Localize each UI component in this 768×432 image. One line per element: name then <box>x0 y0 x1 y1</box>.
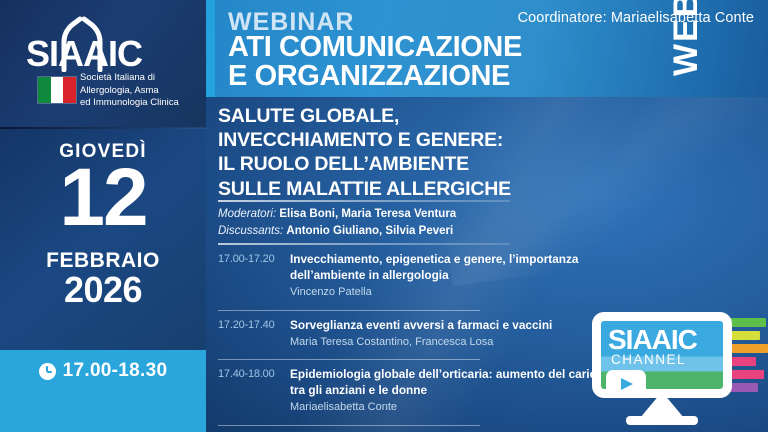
time-row: 17.00-18.30 <box>0 360 206 382</box>
channel-name: SIAAIC <box>608 326 697 354</box>
society-line-3: ed Immunologia Clinica <box>80 97 202 110</box>
program-divider <box>218 310 480 311</box>
program-item: 17.00-17.20 Invecchiamento, epigenetica … <box>218 252 618 305</box>
discussants-label: Discussants: <box>218 225 283 237</box>
program-item: 17.40-18.00 Epidemiologia globale dell’o… <box>218 367 618 420</box>
siaaic-wordmark: SIAAIC <box>26 36 186 72</box>
society-line-1: Società Italiana di <box>80 72 202 85</box>
program-item-speaker: Maria Teresa Costantino, Francesca Losa <box>290 335 618 350</box>
program-item-speaker: Mariaelisabetta Conte <box>290 400 618 415</box>
header-title-line-1: ATI COMUNICAZIONE <box>228 33 522 62</box>
program-item-body: Invecchiamento, epigenetica e genere, l’… <box>290 252 618 300</box>
program-item-body: Epidemiologia globale dell’orticaria: au… <box>290 367 618 415</box>
program-divider <box>218 359 480 360</box>
time-text: 17.00-18.30 <box>63 360 168 382</box>
program-divider <box>218 425 480 426</box>
siaaic-logo: SIAAIC Società Italiana di Allergologia,… <box>0 14 206 118</box>
date-panel: GIOVEDÌ 12 FEBBRAIO 2026 <box>0 129 206 350</box>
society-line-2: Allergologia, Asma <box>80 85 202 98</box>
date-day: 12 <box>0 157 206 239</box>
title-divider-bottom <box>218 243 510 245</box>
clock-icon <box>39 363 56 380</box>
program-item-speaker: Vincenzo Patella <box>290 285 618 300</box>
discussants-names: Antonio Giuliano, Silvia Peveri <box>286 225 453 237</box>
main-title: SALUTE GLOBALE, INVECCHIAMENTO E GENERE:… <box>218 104 578 201</box>
siaaic-channel-logo: SIAAIC CHANNEL <box>592 312 768 432</box>
logo-panel: SIAAIC Società Italiana di Allergologia,… <box>0 0 206 128</box>
webinar-poster: SIAAIC Società Italiana di Allergologia,… <box>0 0 768 432</box>
moderators-names: Elisa Boni, Maria Teresa Ventura <box>279 208 456 220</box>
monitor-stand <box>640 398 684 418</box>
program-item-time: 17.40-18.00 <box>218 367 280 415</box>
program-item-time: 17.00-17.20 <box>218 252 280 300</box>
program-item-body: Sorveglianza eventi avversi a farmaci e … <box>290 318 618 350</box>
roles-block: Moderatori: Elisa Boni, Maria Teresa Ven… <box>218 206 598 239</box>
main-title-line-1: SALUTE GLOBALE, <box>218 104 578 128</box>
program-item-title: Invecchiamento, epigenetica e genere, l’… <box>290 252 618 284</box>
main-title-line-2: INVECCHIAMENTO E GENERE: <box>218 128 578 152</box>
moderators-row: Moderatori: Elisa Boni, Maria Teresa Ven… <box>218 206 598 223</box>
date-year: 2026 <box>0 270 206 310</box>
title-divider-top <box>218 200 510 202</box>
society-name: Società Italiana di Allergologia, Asma e… <box>80 72 202 110</box>
italian-flag-icon <box>37 76 77 104</box>
program-item-title: Epidemiologia globale dell’orticaria: au… <box>290 367 618 399</box>
main-title-line-3: IL RUOLO DELL’AMBIENTE <box>218 152 578 176</box>
main-title-line-4: SULLE MALATTIE ALLERGICHE <box>218 177 578 201</box>
header-title-line-2: E ORGANIZZAZIONE <box>228 62 510 91</box>
vertical-webinar-label: WEBINAR <box>667 0 727 76</box>
channel-subtitle: CHANNEL <box>611 353 686 367</box>
discussants-row: Discussants: Antonio Giuliano, Silvia Pe… <box>218 223 598 240</box>
left-column: SIAAIC Società Italiana di Allergologia,… <box>0 0 206 432</box>
play-icon <box>606 370 646 397</box>
program-item-time: 17.20-17.40 <box>218 318 280 350</box>
program-item: 17.20-17.40 Sorveglianza eventi avversi … <box>218 318 618 355</box>
program-list: 17.00-17.20 Invecchiamento, epigenetica … <box>218 252 618 432</box>
moderators-label: Moderatori: <box>218 208 276 220</box>
time-panel: 17.00-18.30 <box>0 350 206 432</box>
monitor-base <box>626 416 698 425</box>
program-item-title: Sorveglianza eventi avversi a farmaci e … <box>290 318 618 334</box>
cyan-accent-strip <box>206 0 215 97</box>
